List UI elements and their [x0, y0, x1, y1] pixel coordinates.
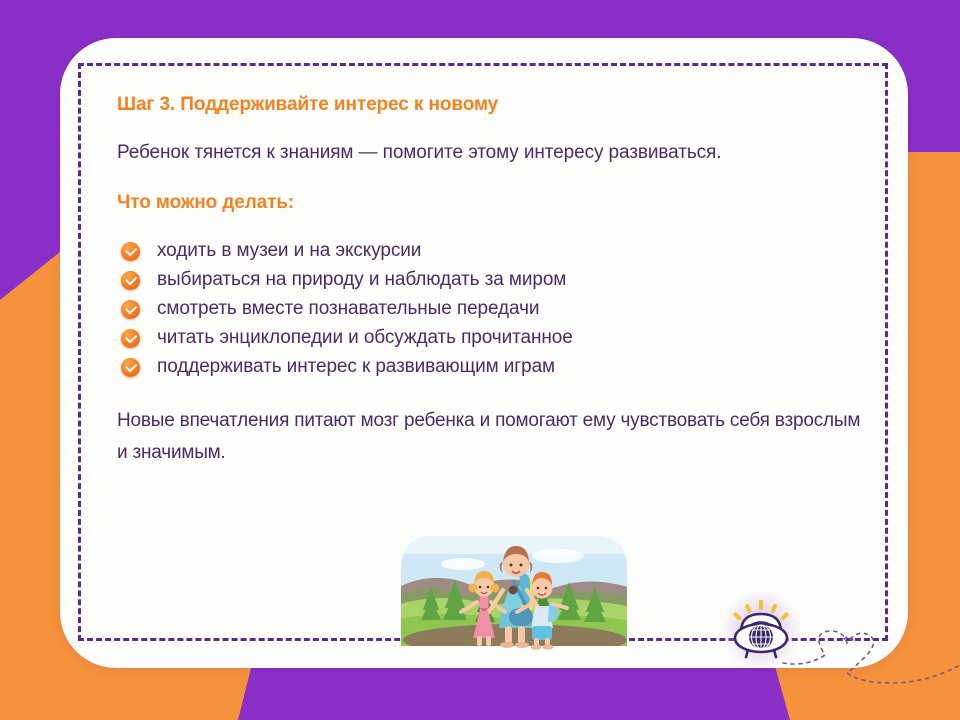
dotted-heart-trail: [781, 611, 960, 691]
list-item-label: читать энциклопедии и обсуждать прочитан…: [157, 327, 573, 348]
list-item: выбираться на природу и наблюдать за мир…: [117, 265, 861, 294]
check-circle-icon: [121, 329, 140, 348]
list-item: смотреть вместе познавательные передачи: [117, 294, 861, 323]
check-circle-icon: [121, 358, 140, 377]
list-item-label: смотреть вместе познавательные передачи: [157, 298, 539, 319]
list-item-label: выбираться на природу и наблюдать за мир…: [157, 269, 566, 290]
check-circle-icon: [121, 271, 140, 290]
activities-list: ходить в музеи и на экскурсии выбираться…: [117, 236, 861, 381]
list-item: читать энциклопедии и обсуждать прочитан…: [117, 323, 861, 352]
family-hiking-illustration: [373, 528, 655, 688]
section-subtitle: Что можно делать:: [117, 192, 861, 214]
check-circle-icon: [121, 300, 140, 319]
dashed-border-frame: Шаг 3. Поддерживайте интерес к новому Ре…: [78, 63, 888, 641]
list-item-label: поддерживать интерес к развивающим играм: [157, 356, 555, 377]
page-title: Шаг 3. Поддерживайте интерес к новому: [117, 94, 861, 116]
lead-paragraph: Ребенок тянется к знаниям — помогите это…: [117, 142, 861, 164]
check-circle-icon: [121, 242, 140, 261]
slide-canvas: Шаг 3. Поддерживайте интерес к новому Ре…: [0, 0, 960, 720]
list-item: поддерживать интерес к развивающим играм: [117, 352, 861, 381]
card-content: Шаг 3. Поддерживайте интерес к новому Ре…: [117, 94, 861, 469]
list-item-label: ходить в музеи и на экскурсии: [157, 240, 421, 261]
closing-paragraph: Новые впечатления питают мозг ребенка и …: [117, 405, 861, 469]
content-card: Шаг 3. Поддерживайте интерес к новому Ре…: [60, 38, 908, 668]
list-item: ходить в музеи и на экскурсии: [117, 236, 861, 265]
